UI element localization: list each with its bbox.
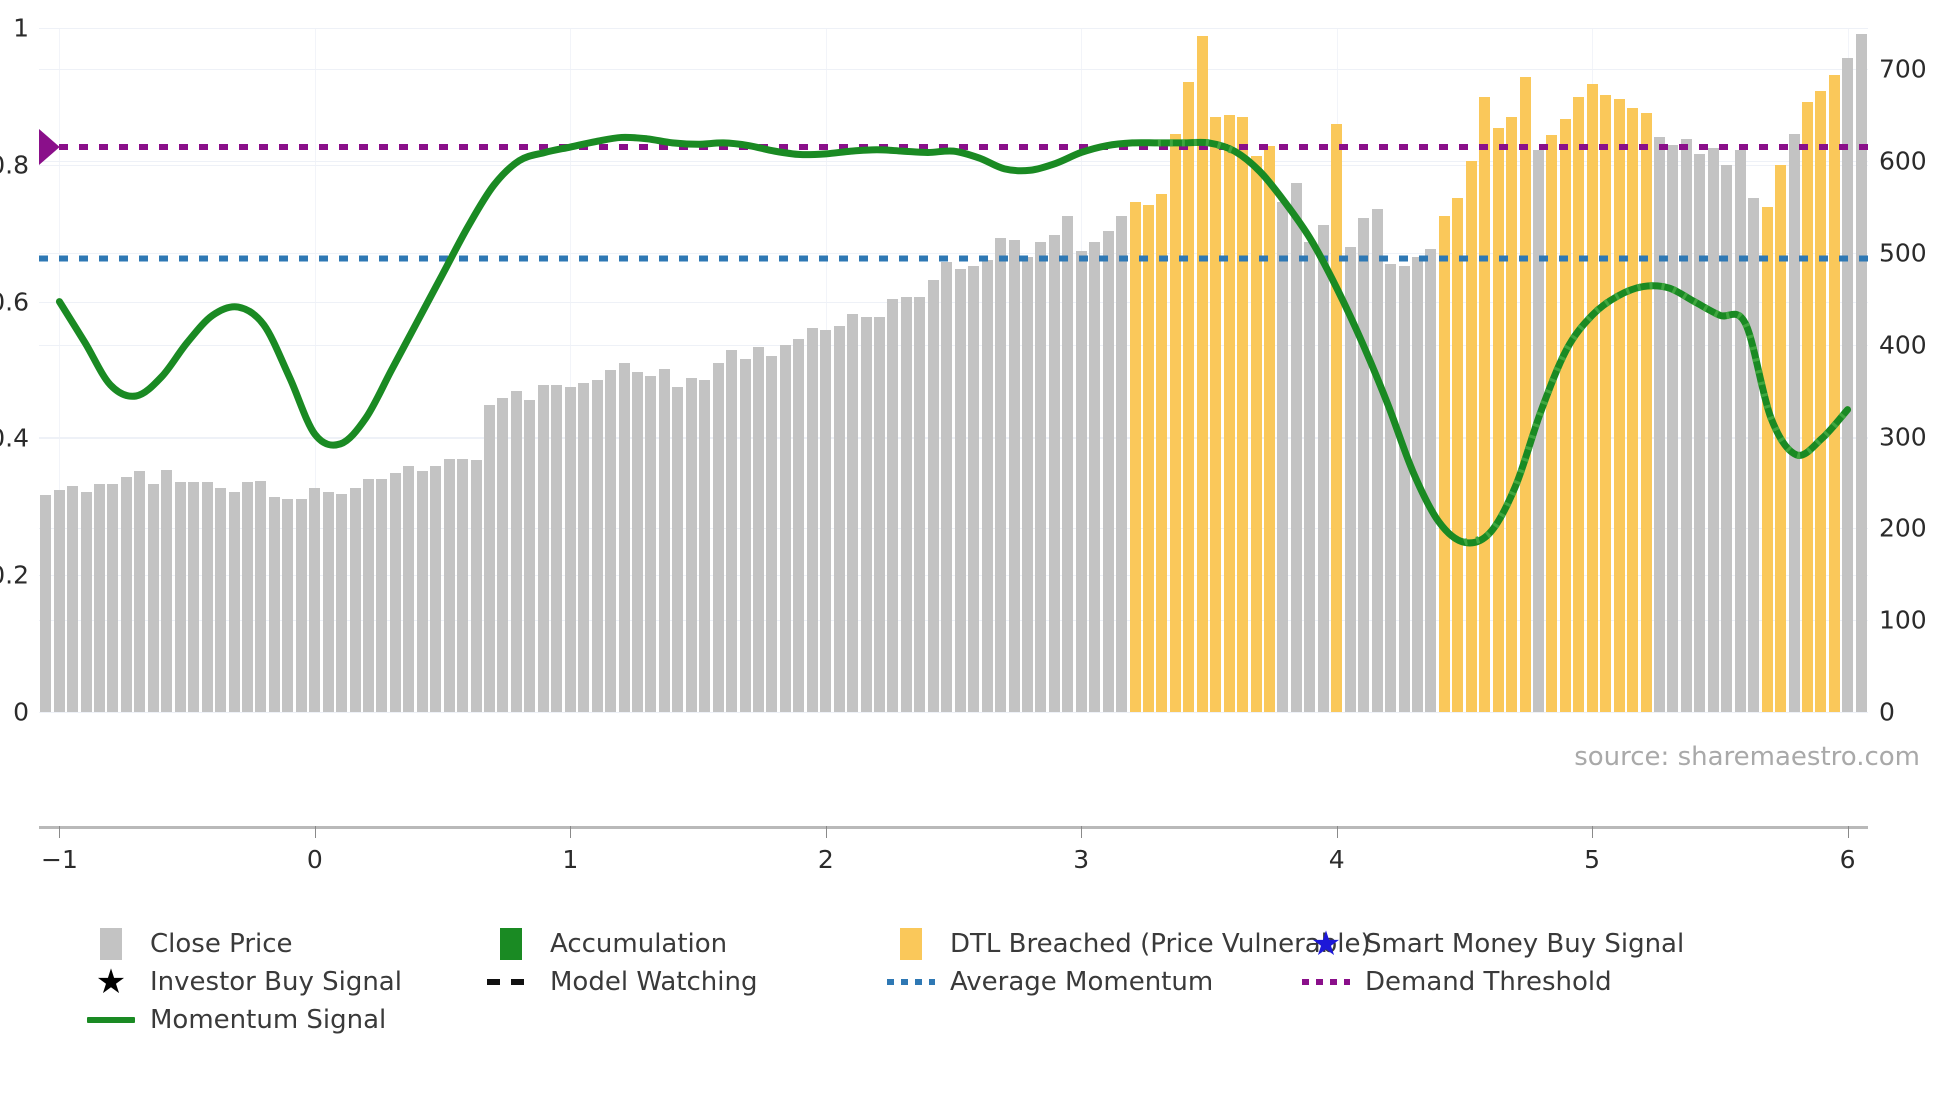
accumulation-segment xyxy=(1464,286,1847,543)
y-axis-right-tick-label: 400 xyxy=(1879,330,1927,359)
legend-item-close-price[interactable]: Close Price xyxy=(84,925,293,963)
legend-item-model-watching[interactable]: Model Watching xyxy=(484,963,757,1001)
legend-row: ★Investor Buy SignalModel WatchingAverag… xyxy=(84,963,1924,1001)
square-swatch-icon xyxy=(900,928,922,960)
y-axis-right-tick-label: 700 xyxy=(1879,55,1927,84)
square-swatch-icon xyxy=(500,928,522,960)
demand-threshold-start-marker xyxy=(39,129,60,165)
y-axis-left-tick-label: 1 xyxy=(13,14,29,43)
legend-item-demand-threshold[interactable]: Demand Threshold xyxy=(1299,963,1612,1001)
x-axis-tick xyxy=(1848,826,1849,838)
legend-label: Accumulation xyxy=(550,929,727,959)
dotted-line-icon xyxy=(887,979,935,985)
legend-row: Momentum Signal xyxy=(84,1001,1924,1039)
plot-area xyxy=(39,28,1868,712)
legend-item-investor-buy-signal[interactable]: ★Investor Buy Signal xyxy=(84,963,402,1001)
legend-item-smart-money-buy-signal[interactable]: ★Smart Money Buy Signal xyxy=(1299,925,1684,963)
x-axis-tick-label: 1 xyxy=(562,845,578,874)
x-axis-tick xyxy=(826,826,827,838)
y-axis-left-tick-label: 0 xyxy=(13,698,29,727)
source-attribution: source: sharemaestro.com xyxy=(1574,742,1920,772)
legend-label: Model Watching xyxy=(550,967,757,997)
chart-legend: Close PriceAccumulationDTL Breached (Pri… xyxy=(84,925,1924,1039)
star-icon: ★ xyxy=(1311,927,1341,961)
y-axis-right-tick-label: 100 xyxy=(1879,606,1927,635)
x-axis-tick-label: 6 xyxy=(1840,845,1856,874)
legend-row: Close PriceAccumulationDTL Breached (Pri… xyxy=(84,925,1924,963)
x-axis-tick xyxy=(570,826,571,838)
y-axis-right-tick-label: 200 xyxy=(1879,514,1927,543)
legend-item-dtl-breached[interactable]: DTL Breached (Price Vulnerable) xyxy=(884,925,1371,963)
star-icon: ★ xyxy=(96,965,126,999)
legend-label: Momentum Signal xyxy=(150,1005,386,1035)
gridline-right xyxy=(39,712,1868,713)
line-overlay xyxy=(39,28,1868,712)
legend-label: Close Price xyxy=(150,929,293,959)
solid-line-icon xyxy=(87,1017,135,1023)
x-axis-tick-label: 0 xyxy=(307,845,323,874)
y-axis-right-tick-label: 0 xyxy=(1879,698,1895,727)
legend-label: Demand Threshold xyxy=(1365,967,1612,997)
y-axis-right-tick-label: 500 xyxy=(1879,238,1927,267)
y-axis-right-tick-label: 300 xyxy=(1879,422,1927,451)
y-axis-left-tick-label: 0.8 xyxy=(0,150,29,179)
x-axis-tick-label: 4 xyxy=(1329,845,1345,874)
x-axis-tick xyxy=(315,826,316,838)
legend-item-accumulation[interactable]: Accumulation xyxy=(484,925,727,963)
x-axis-tick xyxy=(1081,826,1082,838)
x-axis-tick-label: 5 xyxy=(1584,845,1600,874)
y-axis-left-tick-label: 0.4 xyxy=(0,424,29,453)
dotted-line-icon xyxy=(1302,979,1350,985)
chart-page: 00.20.40.60.81 0100200300400500600700 −1… xyxy=(0,0,1960,1102)
x-axis-tick xyxy=(1337,826,1338,838)
legend-label: Average Momentum xyxy=(950,967,1213,997)
legend-label: Smart Money Buy Signal xyxy=(1365,929,1684,959)
y-axis-right-tick-label: 600 xyxy=(1879,147,1927,176)
dashed-line-icon xyxy=(487,979,535,985)
x-axis-tick xyxy=(59,826,60,838)
y-axis-left-tick-label: 0.6 xyxy=(0,287,29,316)
x-axis-line xyxy=(39,826,1868,829)
square-swatch-icon xyxy=(100,928,122,960)
y-axis-left-tick-label: 0.2 xyxy=(0,561,29,590)
x-axis-tick-label: 3 xyxy=(1073,845,1089,874)
legend-item-average-momentum[interactable]: Average Momentum xyxy=(884,963,1213,1001)
legend-label: Investor Buy Signal xyxy=(150,967,402,997)
legend-item-momentum-signal[interactable]: Momentum Signal xyxy=(84,1001,386,1039)
momentum-signal-line xyxy=(59,137,1847,543)
x-axis-tick xyxy=(1592,826,1593,838)
x-axis-tick-label: 2 xyxy=(818,845,834,874)
x-axis-tick-label: −1 xyxy=(41,845,78,874)
